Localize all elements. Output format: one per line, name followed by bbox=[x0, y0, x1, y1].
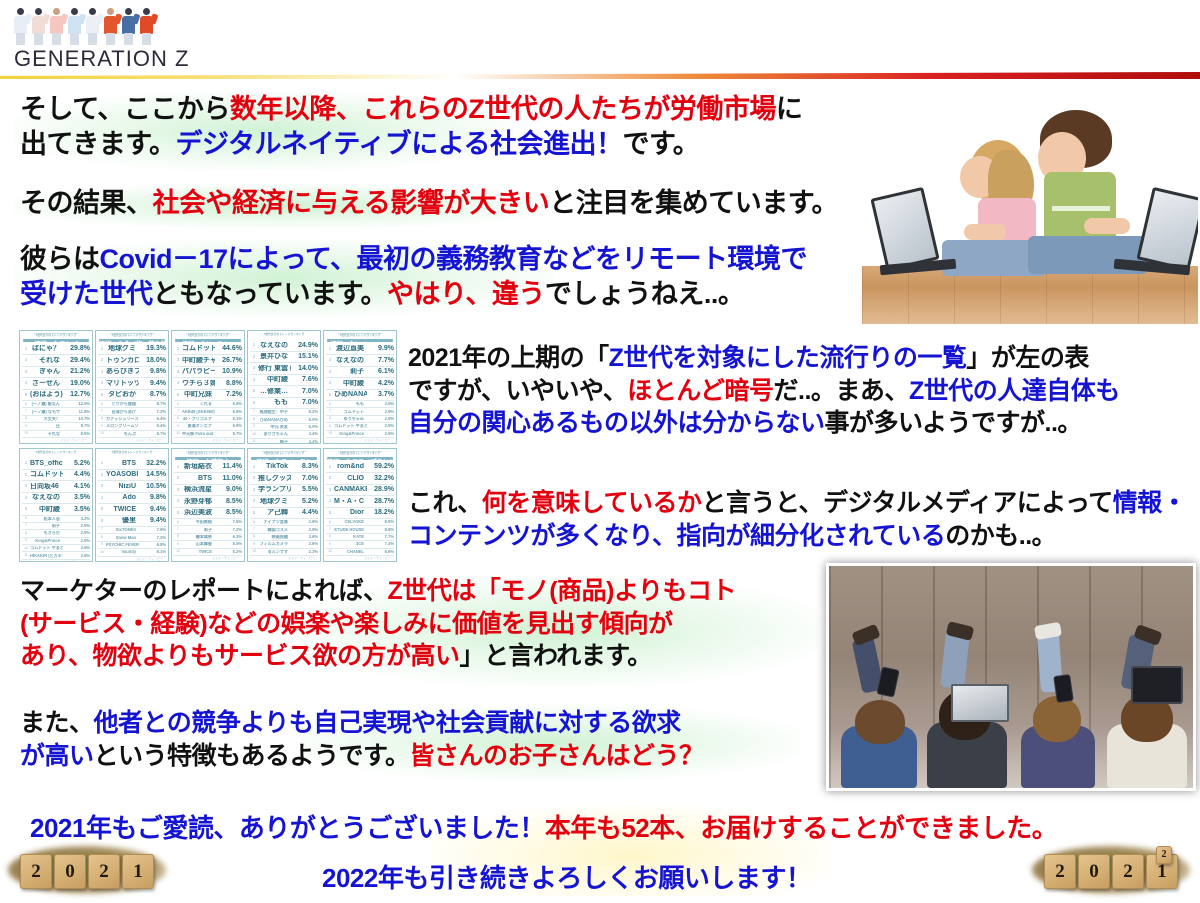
rank-number: 10 bbox=[98, 432, 106, 435]
rank-number: 1 bbox=[326, 347, 334, 351]
card-footnote: ジェイ・ティ・ビー bbox=[22, 438, 90, 443]
item-value: 7.2% bbox=[139, 410, 166, 414]
item-value: 5.2% bbox=[63, 460, 90, 467]
slide-page: GENERATION Z bbox=[0, 0, 1200, 903]
text-run: Z世代は「モノ(商品)よりもコト bbox=[388, 577, 736, 605]
rank-number: 5 bbox=[22, 507, 30, 511]
item-value: 7.6% bbox=[291, 376, 318, 383]
item-name: コムドット bbox=[334, 410, 367, 414]
item-name: 修行 東雲 (17) bbox=[258, 365, 291, 372]
year-block: 0 bbox=[54, 854, 86, 889]
item-value: 2.9% bbox=[63, 531, 90, 535]
ranking-row: 7AKB48 [SKE48のG]6.8% bbox=[174, 408, 242, 415]
item-name: ETUDE HOUSE bbox=[334, 528, 367, 532]
item-value: 2.9% bbox=[291, 520, 318, 524]
rank-number: 2 bbox=[250, 355, 258, 359]
text-run: 出てきます。 bbox=[20, 129, 176, 159]
ranking-row: 6(一ノ瀬) 飯なん12.5% bbox=[22, 401, 90, 408]
ranking-row: 1BTS32.2% bbox=[98, 458, 166, 470]
item-value: 6.4% bbox=[139, 417, 166, 421]
rank-number: 8 bbox=[250, 418, 258, 421]
rank-number: 2 bbox=[22, 358, 30, 362]
item-value: 6.7% bbox=[139, 432, 166, 436]
rank-number: 10 bbox=[98, 551, 106, 554]
ranking-row: 3横浜流星9.0% bbox=[174, 485, 242, 497]
ranking-row: 4Ado9.8% bbox=[98, 493, 166, 505]
item-name: パパラピーズ bbox=[182, 368, 215, 375]
item-value: 9.4% bbox=[139, 506, 166, 513]
item-name: もも bbox=[334, 402, 367, 406]
item-value: 2.6% bbox=[291, 542, 318, 546]
text-line: マーケターのレポートによれば、Z世代は「モノ(商品)よりもコト bbox=[20, 575, 736, 608]
rank-number: 3 bbox=[22, 484, 30, 488]
rank-number: 5 bbox=[98, 507, 106, 511]
item-name: 中町綾 bbox=[30, 506, 63, 513]
item-name: それな bbox=[30, 357, 63, 364]
rank-number: 10 bbox=[326, 432, 334, 435]
text-run: その結果、 bbox=[20, 188, 153, 218]
item-value: 8.7% bbox=[139, 402, 166, 406]
text-run: という特徴もあるようです。 bbox=[94, 742, 410, 770]
item-name: 馬渕睦生：中子 bbox=[258, 410, 291, 414]
item-value: 2.9% bbox=[291, 528, 318, 532]
card-caption: Z世代女子のトレンドランキング bbox=[174, 333, 242, 338]
item-name: NiziU bbox=[106, 483, 139, 490]
table-row-group: Z世代女子のトレンドランキング流行ったコトバ1ぱにゃ？29.8%2それな29.4… bbox=[19, 330, 397, 444]
ranking-row: 6今田美桜7.6% bbox=[174, 519, 242, 526]
rank-number: 2 bbox=[250, 476, 258, 480]
item-name: とりから唐揚 bbox=[106, 402, 139, 406]
item-value: 9.4% bbox=[139, 517, 166, 524]
rank-number: 4 bbox=[98, 381, 106, 385]
text-run: 情報・ bbox=[1113, 489, 1187, 517]
ranking-row: 2BTS11.0% bbox=[174, 473, 242, 485]
ranking-row: 5浜辺美波8.5% bbox=[174, 508, 242, 520]
text-run: デジタルネイティブによる社会進出！ bbox=[176, 129, 623, 159]
item-name: 中元祭 Fuka and Sakoo bbox=[182, 432, 215, 436]
rank-number: 4 bbox=[22, 381, 30, 385]
item-name: ぱにゃ？ bbox=[30, 345, 63, 352]
rank-number: 9 bbox=[250, 543, 258, 546]
item-name: くれる bbox=[182, 402, 215, 406]
item-value: 29.4% bbox=[63, 357, 90, 364]
ranking-card[interactable]: Z世代女子のトレンドランキング流行ったアーティスト1BTS32.2%2YOASO… bbox=[95, 448, 169, 562]
item-value: 2.6% bbox=[63, 554, 90, 558]
page-header: GENERATION Z bbox=[0, 0, 1200, 80]
year-block: 0 bbox=[1078, 854, 1110, 889]
rank-number: 9 bbox=[174, 425, 182, 428]
item-value: 28.9% bbox=[367, 486, 394, 493]
ranking-card[interactable]: Z世代女子のトレンドランキング流行ったYouTuber1コムドット44.6%2中… bbox=[171, 330, 245, 444]
card-caption: Z世代女子のトレンドランキング bbox=[174, 451, 242, 456]
ranking-row: 3修行 東雲 (17)14.0% bbox=[250, 363, 318, 375]
item-value: 8.5% bbox=[215, 509, 242, 516]
ranking-row: 1コムドット44.6% bbox=[174, 344, 242, 356]
item-name: 東海オンエア bbox=[182, 424, 215, 428]
text-run: と言うと、デジタルメディアによって bbox=[702, 489, 1113, 517]
item-name: 莉子 bbox=[30, 524, 63, 528]
logo-figure bbox=[30, 6, 47, 46]
rank-number: 10 bbox=[250, 433, 258, 436]
ranking-card[interactable]: Z世代女子のトレンドランキング流行ったコスメブランド1rom&nd59.2%2C… bbox=[323, 448, 397, 562]
text-run: 」と言われます。 bbox=[460, 642, 652, 670]
ranking-card[interactable]: Z世代女子のトレンドランキング流行った食べ物・飲み物1地球グミ19.3%2トゥン… bbox=[95, 330, 169, 444]
item-name: 渡辺直美 bbox=[334, 345, 367, 352]
rank-number: 5 bbox=[326, 511, 334, 515]
rank-number: 7 bbox=[326, 528, 334, 531]
year-block: 1 bbox=[122, 854, 154, 889]
text-line: 2021年もご愛読、ありがとうございました！本年も52本、お届けすることができま… bbox=[30, 812, 1057, 846]
card-footnote: ジェイ・ティ・ビー bbox=[326, 556, 394, 561]
item-value: 7.2% bbox=[215, 528, 242, 532]
ranking-row: 7SixTONES7.6% bbox=[98, 527, 166, 534]
item-value: 4.1% bbox=[63, 483, 90, 490]
rank-number: 2 bbox=[174, 476, 182, 480]
ranking-row: 10ありさちゃん4.4% bbox=[250, 431, 318, 438]
ranking-row: 10中元祭 Fuka and Sakoo5.7% bbox=[174, 431, 242, 438]
text-run: マーケターのレポートによれば、 bbox=[20, 577, 388, 605]
item-value: 10.7% bbox=[63, 417, 90, 421]
text-line: コンテンツが多くなり、指向が細分化されているのかも..。 bbox=[408, 520, 1186, 553]
rank-number: 7 bbox=[22, 410, 30, 413]
item-value: 9.8% bbox=[139, 368, 166, 375]
item-value: 11.4% bbox=[215, 463, 242, 470]
ranking-row: 840・ブリコメア6.1% bbox=[174, 416, 242, 423]
item-value: 24.9% bbox=[291, 342, 318, 349]
ranking-row: 1BTS_official5.2% bbox=[22, 458, 90, 470]
text-run: コンテンツが多くなり、指向が細分化されている bbox=[408, 522, 945, 550]
item-name: ウチら３姉妹 bbox=[182, 380, 215, 387]
item-value: 3.5% bbox=[367, 402, 394, 406]
ranking-row: 8大丈夫？10.7% bbox=[22, 416, 90, 423]
ranking-row: 10King&Prince2.9% bbox=[326, 431, 394, 438]
card-caption: Z世代女子のトレンドランキング bbox=[326, 333, 394, 338]
rank-number: 5 bbox=[250, 511, 258, 515]
item-name: メロンクリームソーダ bbox=[106, 424, 139, 428]
text-run: に bbox=[776, 94, 803, 124]
ranking-card[interactable]: Z世代女子のトレンドランキング流行ったTikToker1なえなの24.9%2景井… bbox=[247, 330, 321, 444]
item-value: 26.7% bbox=[215, 357, 242, 364]
item-name: ア己韓 bbox=[258, 509, 291, 516]
text-line: 受けた世代ともなっています。やはり、違うでしょうねえ..。 bbox=[20, 277, 807, 312]
rank-number: 8 bbox=[250, 535, 258, 538]
item-name: (おはよう) ですんす bbox=[30, 391, 63, 398]
rank-number: 2 bbox=[326, 476, 334, 480]
logo-figure bbox=[138, 6, 155, 46]
rank-number: 4 bbox=[174, 499, 182, 503]
item-value: 14.0% bbox=[291, 365, 318, 372]
item-value: 2.9% bbox=[367, 424, 394, 428]
ranking-row: 4中町綾4.2% bbox=[326, 378, 394, 390]
item-value: 8.8% bbox=[367, 528, 394, 532]
item-name: 莉子 bbox=[334, 368, 367, 375]
rank-number: 6 bbox=[326, 521, 334, 524]
rank-number: 8 bbox=[326, 535, 334, 538]
text-run: 何を意味しているか bbox=[482, 489, 702, 517]
rank-number: 10 bbox=[174, 550, 182, 553]
item-name: 山本舞香 bbox=[182, 542, 215, 546]
item-value: 8.5% bbox=[63, 432, 90, 436]
text-line: これ、何を意味しているかと言うと、デジタルメディアによって情報・ bbox=[408, 487, 1186, 520]
item-value: 12.5% bbox=[63, 402, 90, 406]
item-name: CLIO bbox=[334, 475, 367, 482]
item-name: BTS bbox=[182, 475, 215, 482]
ranking-row: 4マリトッツォ9.4% bbox=[98, 378, 166, 390]
ranking-row: 6CELVOKE9.9% bbox=[326, 519, 394, 526]
ranking-row: 11郁子4.4% bbox=[250, 439, 318, 444]
ranking-row: 2CLIO32.2% bbox=[326, 473, 394, 485]
ranking-card[interactable]: Z世代女子のトレンドランキング流行ったコトバ1ぱにゃ？29.8%2それな29.4… bbox=[19, 330, 93, 444]
rank-number: 6 bbox=[174, 403, 182, 406]
rank-number: 6 bbox=[98, 519, 106, 523]
ranking-row: 8もさらだ2.9% bbox=[22, 530, 90, 537]
item-value: 10.9% bbox=[215, 368, 242, 375]
item-value: 7.4% bbox=[367, 542, 394, 546]
card-title: 流行ったinstagramer bbox=[327, 339, 393, 342]
ranking-row: 1なえなの24.9% bbox=[250, 340, 318, 352]
text-line: その結果、社会や経済に与える影響が大きいと注目を集めています。 bbox=[20, 186, 838, 221]
ranking-row: 3学ランプリ5.5% bbox=[250, 485, 318, 497]
text-run: 皆さんのお子さんはどう？ bbox=[410, 742, 704, 770]
ranking-row: 4なえなの3.5% bbox=[22, 493, 90, 505]
ranking-row: 2景井ひな15.1% bbox=[250, 352, 318, 364]
item-value: 7.6% bbox=[139, 528, 166, 532]
rank-number: 6 bbox=[98, 403, 106, 406]
rank-number: 3 bbox=[250, 366, 258, 370]
paragraph-1: そして、ここから数年以降、これらのZ世代の人たちが労働市場に出てきます。デジタル… bbox=[20, 92, 802, 162]
person-2 bbox=[921, 616, 1017, 788]
text-line: あり、物欲よりもサービス欲の方が高い」と言われます。 bbox=[20, 640, 736, 673]
text-run: ですが、いやいや、 bbox=[408, 377, 627, 405]
text-run: やはり、違う bbox=[387, 279, 545, 309]
rank-number: 2 bbox=[98, 473, 106, 477]
item-name: King&Prince bbox=[30, 539, 63, 543]
rank-number: 6 bbox=[22, 517, 30, 520]
logo-figure bbox=[66, 6, 83, 46]
rank-number: 7 bbox=[250, 528, 258, 531]
rank-number: 1 bbox=[174, 465, 182, 469]
card-footnote: ジェイ・ティ・ビー bbox=[326, 438, 394, 443]
rank-number: 10 bbox=[250, 550, 258, 553]
ranking-card[interactable]: Z世代女子のトレンドランキング流行った芸能人1新垣結衣11.4%2BTS11.0… bbox=[171, 448, 245, 562]
year-block: 2 bbox=[1044, 854, 1076, 889]
ranking-row: 2トゥンカロン18.0% bbox=[98, 355, 166, 367]
text-run: 2022年も引き続きよろしくお願いします！ bbox=[322, 863, 811, 893]
rank-number: 5 bbox=[174, 393, 182, 397]
ranking-row: 9フィルムカメラ2.6% bbox=[250, 541, 318, 548]
ranking-row: 1rom&nd59.2% bbox=[326, 462, 394, 474]
item-value: 7.6% bbox=[215, 520, 242, 524]
item-name: あらびきフリットライス bbox=[106, 368, 139, 375]
item-name: もさらだ bbox=[30, 531, 63, 535]
ranking-card[interactable]: Z世代女子のトレンドランキング流行ったモノ・コト1TikTok8.3%2推しグッ… bbox=[247, 448, 321, 562]
page-footer: 2021年もご愛読、ありがとうございました！本年も52本、お届けすることができま… bbox=[0, 800, 1200, 903]
item-name: コムドット bbox=[182, 345, 215, 352]
ranking-row: 6とりから唐揚8.7% bbox=[98, 401, 166, 408]
card-caption: Z世代女子のトレンドランキング bbox=[22, 333, 90, 338]
item-name: なえなの bbox=[258, 342, 291, 349]
ranking-row: 2コムドット4.4% bbox=[22, 470, 90, 482]
item-name: KATE bbox=[334, 535, 367, 539]
card-rows: 1新垣結衣11.4%2BTS11.0%3横浜流星9.0%4永野芽郁8.5%5浜辺… bbox=[174, 462, 242, 556]
text-line: ですが、いやいや、ほとんど暗号だ..。まあ、Z世代の人達自体も bbox=[408, 375, 1120, 408]
ranking-row: 93CE7.4% bbox=[326, 541, 394, 548]
card-rows: 1地球グミ19.3%2トゥンカロン18.0%3あらびきフリットライス9.8%4マ… bbox=[98, 344, 166, 438]
ranking-row: 4さーせん19.0% bbox=[22, 378, 90, 390]
ranking-row: 9東海オンエア5.9% bbox=[174, 423, 242, 430]
item-name: 圧 bbox=[30, 424, 63, 428]
item-value: 2.9% bbox=[367, 417, 394, 421]
ranking-row: 8ゆうちゃみ2.9% bbox=[326, 416, 394, 423]
rank-number: 2 bbox=[98, 358, 106, 362]
ranking-row: 5ア己韓4.4% bbox=[250, 508, 318, 520]
text-run: 本年も52本、お届けすることができました。 bbox=[545, 813, 1057, 843]
ranking-row: 7馬渕睦生：中子5.2% bbox=[250, 409, 318, 416]
rank-number: 9 bbox=[98, 543, 106, 546]
item-value: 9.8% bbox=[139, 494, 166, 501]
item-name: 中町綾 bbox=[334, 380, 367, 387]
item-value: 11.0% bbox=[215, 475, 242, 482]
item-value: 5.0% bbox=[291, 418, 318, 422]
person-4 bbox=[1101, 618, 1196, 788]
item-value: 10.5% bbox=[139, 483, 166, 490]
item-name: 景井ひな bbox=[258, 353, 291, 360]
item-name: もんぶ bbox=[106, 432, 139, 436]
text-line: (サービス・経験)などの娯楽や楽しみに価値を見出す傾向が bbox=[20, 608, 736, 641]
item-name: ナイアツ音楽 bbox=[258, 520, 291, 524]
ranking-row: 10写ルンです2.3% bbox=[250, 549, 318, 556]
rank-number: 8 bbox=[326, 417, 334, 420]
card-rows: 1コムドット44.6%2中町綾チャンネル26.7%3パパラピーズ10.9%4ウチ… bbox=[174, 344, 242, 438]
item-name: M・A・C bbox=[334, 498, 367, 505]
item-name: 浜辺美波 bbox=[182, 509, 215, 516]
ranking-row: 9圧8.7% bbox=[22, 423, 90, 430]
footer-line-2: 2022年も引き続きよろしくお願いします！ bbox=[322, 862, 811, 896]
rank-number: 7 bbox=[98, 528, 106, 531]
item-name: CANMAKE bbox=[334, 486, 367, 493]
item-name: 莉子 bbox=[182, 528, 215, 532]
item-name: SixTONES bbox=[106, 528, 139, 532]
item-name: HIKAKIN (ヒカキンYouTube) bbox=[30, 554, 63, 558]
item-name: 新垣結衣 bbox=[182, 463, 215, 470]
card-footnote: ジェイ・ティ・ビー bbox=[250, 556, 318, 561]
ranking-row: 8ガナッシュソース6.4% bbox=[98, 416, 166, 423]
item-name: 3CE bbox=[334, 542, 367, 546]
text-line: そして、ここから数年以降、これらのZ世代の人たちが労働市場に bbox=[20, 92, 802, 127]
generation-z-logo: GENERATION Z bbox=[10, 4, 189, 72]
ranking-row: 7台湾からあげ7.2% bbox=[98, 408, 166, 415]
rank-number: 5 bbox=[22, 393, 30, 397]
rank-number: 8 bbox=[98, 417, 106, 420]
item-value: 6.6% bbox=[367, 550, 394, 554]
ranking-row: 6優里9.4% bbox=[98, 516, 166, 528]
text-run: Z世代を対象にした流行りの一覧 bbox=[609, 344, 967, 372]
ranking-row: 7コムドット2.9% bbox=[326, 408, 394, 415]
paragraph-6: マーケターのレポートによれば、Z世代は「モノ(商品)よりもコト(サービス・経験)… bbox=[20, 575, 736, 673]
item-name: CHANEL bbox=[334, 550, 367, 554]
ranking-row: 9コムドット やまと2.9% bbox=[326, 423, 394, 430]
rank-number: 7 bbox=[98, 410, 106, 413]
ranking-row: 4M・A・C28.7% bbox=[326, 496, 394, 508]
text-run: Covid－17によって、最初の義務教育などをリモート環境で bbox=[100, 244, 808, 274]
card-title: 流行ったコスメブランド bbox=[327, 457, 393, 460]
photo-children-laptops bbox=[862, 88, 1198, 324]
rank-number: 8 bbox=[22, 417, 30, 420]
item-name: 郁子 bbox=[258, 440, 291, 444]
item-value: 4.2% bbox=[367, 380, 394, 387]
item-value: 28.7% bbox=[367, 498, 394, 505]
ranking-row: 5タピおか8.7% bbox=[98, 390, 166, 402]
ranking-card[interactable]: Z世代女子のトレンドランキング流行ったTwitter1BTS_official5… bbox=[19, 448, 93, 562]
rank-number: 1 bbox=[98, 347, 106, 351]
item-name: CELVOKE bbox=[334, 520, 367, 524]
laptop-left bbox=[874, 192, 960, 278]
laptop-right bbox=[1110, 192, 1198, 278]
item-name: それな bbox=[30, 432, 63, 436]
item-name: King&Prince bbox=[334, 432, 367, 436]
rank-number: 9 bbox=[326, 425, 334, 428]
card-caption: Z世代女子のトレンドランキング bbox=[98, 333, 166, 338]
paragraph-7: また、他者との競争よりも自己実現や社会貢献に対する欲求が高いという特徴もあるよう… bbox=[20, 707, 704, 772]
item-value: 3.5% bbox=[63, 494, 90, 501]
ranking-row: 3NiziU10.5% bbox=[98, 481, 166, 493]
rank-number: 4 bbox=[250, 499, 258, 503]
ranking-row: 6ナイアツ音楽2.9% bbox=[250, 519, 318, 526]
text-run: 自分の関心あるもの以外は分からない bbox=[408, 409, 825, 437]
year-block: 2 bbox=[88, 854, 120, 889]
card-rows: 1ぱにゃ？29.8%2それな29.4%3ぎゃん21.2%4さーせん19.0%5(… bbox=[22, 344, 90, 438]
item-value: 7.0% bbox=[291, 388, 318, 395]
ranking-row: 3あらびきフリットライス9.8% bbox=[98, 367, 166, 379]
card-caption: Z世代女子のトレンドランキング bbox=[22, 451, 90, 456]
item-value: 2.9% bbox=[63, 524, 90, 528]
item-name: (一ノ瀬) なもで bbox=[30, 410, 63, 414]
ranking-row: 5…修業…7.0% bbox=[250, 386, 318, 398]
rank-number: 4 bbox=[326, 499, 334, 503]
rank-number: 7 bbox=[174, 528, 182, 531]
text-run: (サービス・経験)などの娯楽や楽しみに価値を見出す傾向が bbox=[20, 610, 673, 638]
item-name: マリトッツォ bbox=[106, 380, 139, 387]
photo-young-adults-devices bbox=[826, 563, 1196, 791]
rank-number: 10 bbox=[174, 432, 182, 435]
item-name: Snow Man bbox=[106, 536, 139, 540]
card-footnote: ジェイ・ティ・ビー bbox=[174, 556, 242, 561]
ranking-row: 9中元 茉友5.0% bbox=[250, 424, 318, 431]
rank-number: 3 bbox=[174, 370, 182, 374]
rank-number: 3 bbox=[326, 370, 334, 374]
text-run: でしょうねえ..。 bbox=[545, 279, 745, 309]
rank-number: 4 bbox=[326, 381, 334, 385]
item-value: 7.0% bbox=[291, 475, 318, 482]
rank-number: 5 bbox=[98, 393, 106, 397]
ranking-card[interactable]: Z世代女子のトレンドランキング流行ったinstagramer1渡辺直美9.9%2… bbox=[323, 330, 397, 444]
text-run: 2021年もご愛読、ありがとうございました！ bbox=[30, 813, 545, 843]
item-value: 5.0% bbox=[291, 425, 318, 429]
item-value: 2.6% bbox=[291, 535, 318, 539]
item-value: 11.8% bbox=[63, 410, 90, 414]
item-name: ひめNANAひめ bbox=[258, 418, 291, 422]
item-value: 5.2% bbox=[291, 410, 318, 414]
rank-number: 4 bbox=[250, 378, 258, 382]
item-value: 32.2% bbox=[139, 460, 166, 467]
item-name: 今田美桜 bbox=[182, 520, 215, 524]
card-title: 流行ったYouTuber bbox=[175, 339, 241, 342]
item-value: 6.4% bbox=[139, 424, 166, 428]
rank-number: 1 bbox=[250, 343, 258, 347]
text-run: が高い bbox=[20, 742, 94, 770]
logo-figure bbox=[84, 6, 101, 46]
rank-number: 3 bbox=[174, 488, 182, 492]
